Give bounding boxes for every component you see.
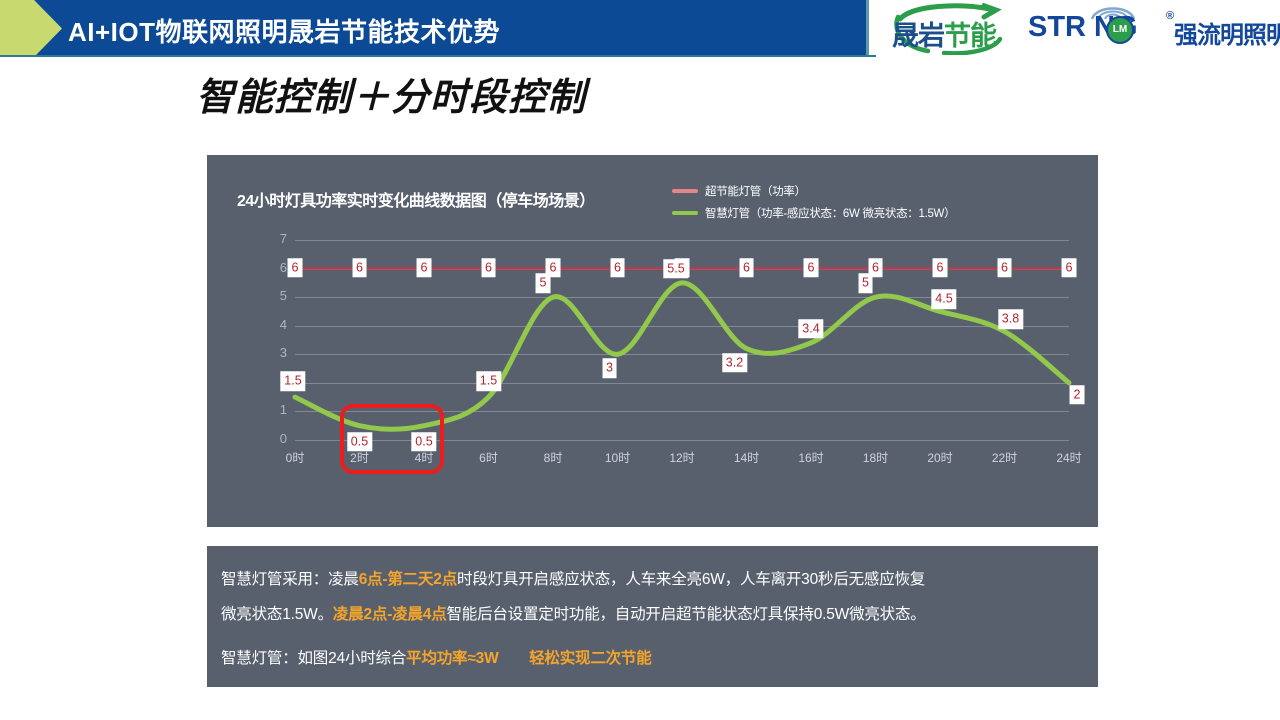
- data-point-label: 6: [610, 258, 625, 278]
- y-axis-tick: 7: [269, 231, 287, 246]
- x-axis-tick: 24时: [1056, 449, 1081, 466]
- data-point-label: 5: [536, 273, 551, 293]
- note-2-highlight: 凌晨2点-凌晨4点: [333, 606, 447, 623]
- legend-item-0: 超节能灯管（功率）: [672, 180, 1092, 202]
- data-point-label: 1.5: [476, 371, 501, 391]
- note-3-highlight-2: 轻松实现二次节能: [529, 650, 651, 667]
- data-point-label: 4.5: [931, 290, 956, 310]
- x-axis-tick: 12时: [669, 449, 694, 466]
- note-3-highlight: 平均功率≈3W: [406, 650, 498, 667]
- data-point-label: 5.5: [663, 259, 688, 279]
- x-axis-tick: 6时: [479, 449, 498, 466]
- x-axis-tick: 20时: [927, 449, 952, 466]
- legend-item-1: 智慧灯管（功率-感应状态：6W 微亮状态：1.5W）: [672, 202, 1092, 224]
- data-point-label: 6: [352, 258, 367, 278]
- y-axis-tick: 4: [269, 317, 287, 332]
- brand-tagline-cn: 强流明照明: [1174, 15, 1280, 50]
- x-axis-tick: 14时: [734, 449, 759, 466]
- x-axis-tick: 0时: [286, 449, 305, 466]
- x-axis-tick: 18时: [863, 449, 888, 466]
- y-axis-tick: 3: [269, 345, 287, 360]
- page-title: AI+IOT物联网照明晟岩节能技术优势: [68, 12, 500, 49]
- data-point-label: 3.4: [798, 319, 823, 339]
- red-highlight-box: [340, 404, 444, 474]
- data-point-label: 5: [858, 273, 873, 293]
- x-axis-tick: 8时: [544, 449, 563, 466]
- legend-label-0: 超节能灯管（功率）: [705, 183, 806, 199]
- brand-name-cn: 晟岩节能: [892, 14, 996, 53]
- data-point-label: 3: [602, 359, 617, 379]
- data-point-label: 6: [481, 258, 496, 278]
- data-point-label: 2: [1070, 385, 1085, 405]
- note-1-a: 智慧灯管采用：凌晨: [221, 571, 359, 588]
- data-point-label: 6: [288, 258, 303, 278]
- note-1-highlight: 6点-第二天2点: [359, 571, 457, 588]
- note-2-a: 微亮状态1.5W。: [221, 606, 333, 623]
- notes-panel: 智慧灯管采用：凌晨6点-第二天2点时段灯具开启感应状态，人车来全亮6W，人车离开…: [207, 546, 1098, 687]
- data-point-label: 6: [933, 258, 948, 278]
- header-divider: [866, 0, 869, 57]
- data-point-label: 6: [739, 258, 754, 278]
- legend-swatch-icon: [672, 211, 698, 215]
- y-axis-tick: 0: [269, 431, 287, 446]
- legend-label-1: 智慧灯管（功率-感应状态：6W 微亮状态：1.5W）: [705, 205, 955, 221]
- chart-panel: 24小时灯具功率实时变化曲线数据图（停车场场景） 超节能灯管（功率） 智慧灯管（…: [207, 155, 1098, 527]
- registered-trademark-icon: ®: [1166, 10, 1174, 22]
- data-point-label: 1.5: [280, 371, 305, 391]
- brand-cn-green: 节能: [944, 21, 996, 51]
- chart-legend: 超节能灯管（功率） 智慧灯管（功率-感应状态：6W 微亮状态：1.5W）: [672, 180, 1092, 224]
- data-point-label: 3.8: [998, 310, 1023, 330]
- brand-logo: 晟岩节能 STR NG LM ® 强流明照明: [876, 0, 1280, 57]
- note-line-3: 智慧灯管：如图24小时综合平均功率≈3W 轻松实现二次节能: [221, 646, 652, 668]
- x-axis-tick: 22时: [992, 449, 1017, 466]
- data-point-label: 6: [1062, 258, 1077, 278]
- brand-lm-badge: LM: [1106, 16, 1134, 44]
- data-point-label: 6: [417, 258, 432, 278]
- data-point-label: 6: [997, 258, 1012, 278]
- note-3-gap: [499, 650, 530, 667]
- slide-subtitle: 智能控制＋分时段控制: [196, 66, 586, 121]
- data-point-label: 3.2: [722, 353, 747, 373]
- chart-title: 24小时灯具功率实时变化曲线数据图（停车场场景）: [237, 187, 595, 211]
- legend-swatch-icon: [672, 189, 698, 193]
- y-axis-tick: 6: [269, 260, 287, 275]
- x-axis-tick: 10时: [605, 449, 630, 466]
- note-3-a: 智慧灯管：如图24小时综合: [221, 650, 406, 667]
- y-axis-tick: 5: [269, 288, 287, 303]
- note-1-b: 时段灯具开启感应状态，人车来全亮6W，人车离开30秒后无感应恢复: [457, 571, 925, 588]
- data-point-label: 6: [804, 258, 819, 278]
- note-line-2: 微亮状态1.5W。凌晨2点-凌晨4点智能后台设置定时功能，自动开启超节能状态灯具…: [221, 602, 926, 624]
- brand-cn-dark: 晟岩: [892, 21, 944, 51]
- note-2-b: 智能后台设置定时功能，自动开启超节能状态灯具保持0.5W微亮状态。: [447, 606, 926, 623]
- y-axis-tick: 1: [269, 402, 287, 417]
- x-axis-tick: 16时: [798, 449, 823, 466]
- note-line-1: 智慧灯管采用：凌晨6点-第二天2点时段灯具开启感应状态，人车来全亮6W，人车离开…: [221, 567, 925, 589]
